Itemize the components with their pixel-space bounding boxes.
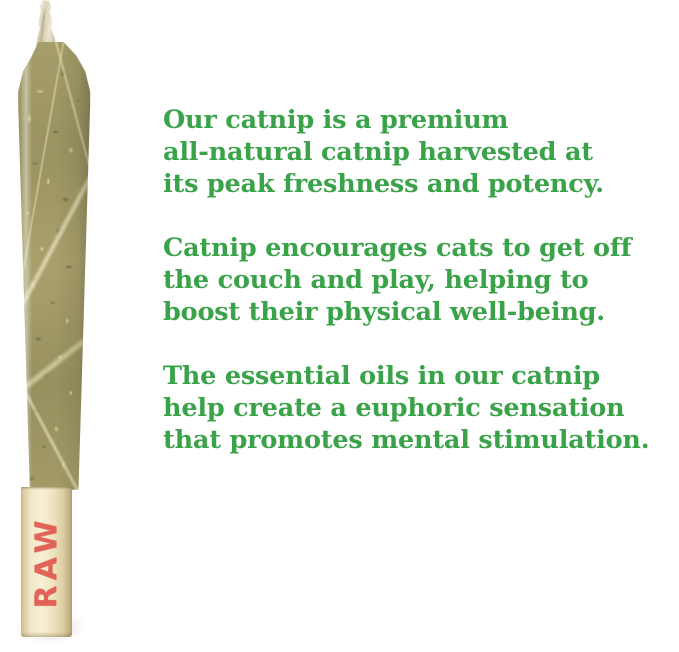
cone-edge-outline bbox=[6, 42, 96, 492]
filter-tip-bottom-edge bbox=[21, 632, 72, 637]
product-image-raw-catnip-cone: RAW bbox=[0, 0, 130, 652]
cone-body bbox=[6, 42, 96, 492]
filter-tip-top-edge bbox=[21, 487, 72, 490]
marketing-copy-block: Our catnip is a premium all-natural catn… bbox=[163, 104, 673, 456]
raw-brand-logo: RAW bbox=[29, 515, 64, 608]
cone-filter-tip: RAW bbox=[21, 487, 72, 637]
copy-paragraph-encourages-play: Catnip encourages cats to get off the co… bbox=[163, 232, 673, 328]
product-feature-page: RAW Our catnip is a premium all-natural … bbox=[0, 0, 679, 652]
copy-paragraph-premium-catnip: Our catnip is a premium all-natural catn… bbox=[163, 104, 673, 200]
copy-paragraph-essential-oils: The essential oils in our catnip help cr… bbox=[163, 360, 673, 456]
